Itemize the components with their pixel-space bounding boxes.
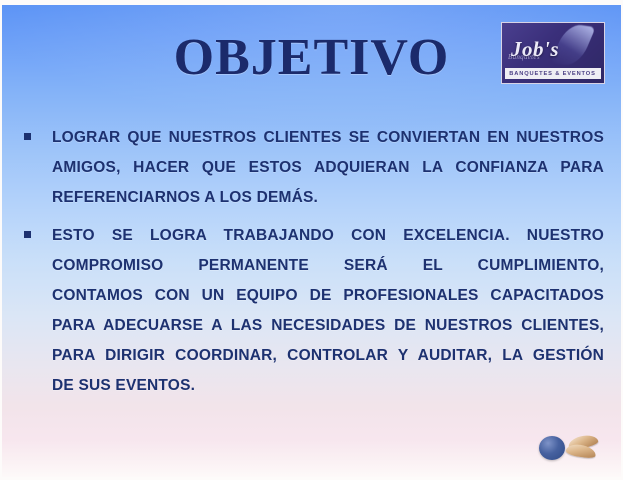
logo-strip: BANQUETES & EVENTOS bbox=[505, 68, 601, 79]
blue-disc-icon bbox=[539, 436, 565, 460]
bullet-line: PARA ADECUARSE A LAS NECESIDADES DE NUES… bbox=[52, 311, 604, 341]
corner-ornament bbox=[535, 433, 605, 465]
bullet-item: ESTO SE LOGRA TRABAJANDO CON EXCELENCIA.… bbox=[24, 221, 604, 401]
square-bullet-icon bbox=[24, 133, 31, 140]
bullet-line: LOGRAR QUE NUESTROS CLIENTES SE CONVIERT… bbox=[52, 123, 604, 153]
slide-body: LOGRAR QUE NUESTROS CLIENTES SE CONVIERT… bbox=[24, 123, 604, 409]
logo-strip-text: BANQUETES & EVENTOS bbox=[510, 71, 596, 77]
bullet-line: PARA DIRIGIR COORDINAR, CONTROLAR Y AUDI… bbox=[52, 341, 604, 371]
shoes-icon bbox=[566, 435, 602, 461]
company-logo: Job's Banquetes BANQUETES & EVENTOS bbox=[501, 22, 605, 84]
bullet-line: COMPROMISO PERMANENTE SERÁ EL CUMPLIMIEN… bbox=[52, 251, 604, 281]
slide-surface: OBJETIVO Job's Banquetes BANQUETES & EVE… bbox=[2, 5, 621, 477]
bullet-line: AMIGOS, HACER QUE ESTOS ADQUIERAN LA CON… bbox=[52, 153, 604, 183]
bullet-paragraph: ESTO SE LOGRA TRABAJANDO CON EXCELENCIA.… bbox=[52, 221, 604, 401]
logo-artwork: Job's Banquetes BANQUETES & EVENTOS bbox=[502, 23, 604, 83]
logo-tagline: Banquetes bbox=[508, 53, 540, 61]
slide: OBJETIVO Job's Banquetes BANQUETES & EVE… bbox=[0, 0, 623, 480]
bullet-line: DE SUS EVENTOS. bbox=[52, 371, 604, 401]
bullet-paragraph: LOGRAR QUE NUESTROS CLIENTES SE CONVIERT… bbox=[52, 123, 604, 213]
bullet-line: REFERENCIARNOS A LOS DEMÁS. bbox=[52, 183, 604, 213]
bullet-line: CONTAMOS CON UN EQUIPO DE PROFESIONALES … bbox=[52, 281, 604, 311]
square-bullet-icon bbox=[24, 231, 31, 238]
bullet-item: LOGRAR QUE NUESTROS CLIENTES SE CONVIERT… bbox=[24, 123, 604, 213]
bullet-line: ESTO SE LOGRA TRABAJANDO CON EXCELENCIA.… bbox=[52, 221, 604, 251]
